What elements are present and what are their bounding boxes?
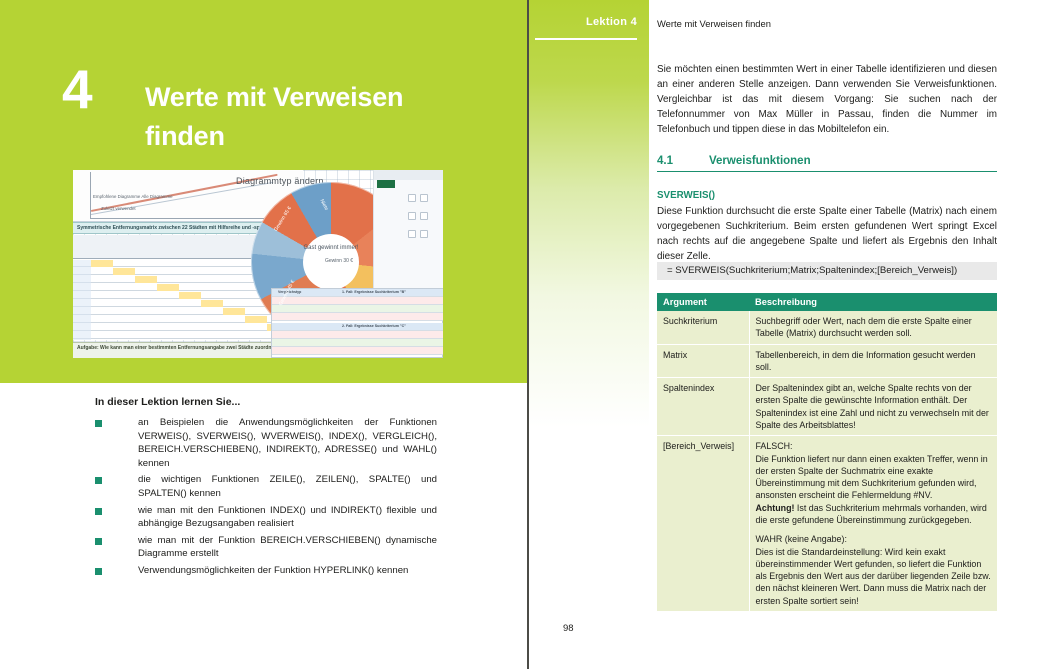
subsection-body: Diese Funktion durchsucht die erste Spal… [657,205,997,264]
table-header-row: Argument Beschreibung [657,293,997,311]
table-row: Suchkriterium Suchbegriff oder Wert, nac… [657,311,997,344]
square-bullet-icon [95,538,102,545]
list-item: wie man mit der Funktion BEREICH.VERSCHI… [95,534,437,561]
excel-ribbon-fragment [373,170,443,290]
achtung-label: Achtung! [756,503,795,513]
chart-blur-label-1: Empfohlene Diagramme Alle Diagramme [93,194,173,199]
ribbon-icon [408,194,416,202]
matrix-cell-highlight [91,260,113,267]
subsection-heading: SVERWEIS() [657,190,715,201]
square-bullet-icon [95,508,102,515]
section-title: Verweisfunktionen [709,155,811,167]
chart-x-axis [90,218,285,219]
table-row: [Bereich_Verweis] FALSCH: Die Funktion l… [657,436,997,611]
comparison-row [272,305,443,313]
cell-description: Tabellenbereich, in dem die Information … [749,344,997,378]
comparison-row [272,331,443,339]
section-heading: 4.1Verweisfunktionen [657,155,997,172]
cell-description-rich: FALSCH: Die Funktion liefert nur dann ei… [749,436,997,611]
right-page: Lektion 4 Werte mit Verweisen finden Sie… [529,0,1057,669]
matrix-caption-text: Symmetrische Entfernungsmatrix zwischen … [77,225,268,231]
cell-argument: Suchkriterium [657,311,749,344]
running-head: Werte mit Verweisen finden [657,18,771,29]
column-header-description: Beschreibung [749,293,997,311]
ribbon-icon [408,230,416,238]
left-page: 4 Werte mit Verweisen finden Empfohlene … [0,0,527,669]
cell-argument: [Bereich_Verweis] [657,436,749,611]
ribbon-icon [420,194,428,202]
comparison-header-1: Vergleichstyp 1. Fall: Ergebnisse Suchkr… [272,289,443,297]
list-item: an Beispielen die Anwendungsmöglichkeite… [95,416,437,470]
square-bullet-icon [95,477,102,484]
list-item-text: die wichtigen Funktionen ZEILE(), ZEILEN… [138,473,437,500]
lesson-label-rule [535,38,637,40]
chart-blur-label-2: Zuletzt verwendet [101,206,136,211]
comparison-row [272,313,443,321]
column-header-argument: Argument [657,293,749,311]
square-bullet-icon [95,420,102,427]
arguments-table: Argument Beschreibung Suchkriterium Such… [657,293,997,611]
comparison-tables: Vergleichstyp 1. Fall: Ergebnisse Suchkr… [271,288,443,358]
chapter-title: Werte mit Verweisen finden [145,78,475,156]
matrix-cell-highlight [157,284,179,291]
ribbon-file-tab [377,180,395,188]
learning-objectives-list: an Beispielen die Anwendungsmöglichkeite… [95,416,437,581]
donut-slice-label: Gewinn 30 € [325,258,353,264]
intro-paragraph: Sie möchten einen bestimmten Wert in ein… [657,62,997,137]
matrix-cell-highlight [245,316,267,323]
falsch-text: Die Funktion liefert nur dann einen exak… [756,454,988,501]
list-item-text: wie man mit den Funktionen INDEX() und I… [138,504,437,531]
table-row: Matrix Tabellenbereich, in dem die Infor… [657,344,997,378]
cell-argument: Spaltenindex [657,378,749,436]
lesson-sidebar-gradient [529,0,649,450]
ribbon-titlebar [374,170,443,180]
section-number: 4.1 [657,155,709,167]
matrix-cell-highlight [179,292,201,299]
matrix-cell-highlight [223,308,245,315]
cell-argument: Matrix [657,344,749,378]
paragraph-gap [756,526,992,533]
comparison-row [272,347,443,355]
cell-description: Der Spaltenindex gibt an, welche Spalte … [749,378,997,436]
ribbon-icon [420,212,428,220]
matrix-cell-highlight [113,268,135,275]
ribbon-icon [408,212,416,220]
page-spread: 4 Werte mit Verweisen finden Empfohlene … [0,0,1057,669]
chapter-number: 4 [62,62,92,117]
matrix-cell-highlight [201,300,223,307]
learning-objectives-heading: In dieser Lektion lernen Sie... [95,396,240,408]
comparison-row [272,297,443,305]
chapter-cover-screenshot: Empfohlene Diagramme Alle Diagramme Zule… [73,170,443,358]
list-item-text: an Beispielen die Anwendungsmöglichkeite… [138,416,437,470]
matrix-row-headers [73,260,91,340]
comparison-row [272,339,443,347]
table-row: Spaltenindex Der Spaltenindex gibt an, w… [657,378,997,436]
page-number: 98 [563,623,574,634]
cell-description: Suchbegriff oder Wert, nach dem die erst… [749,311,997,344]
list-item-text: Verwendungsmöglichkeiten der Funktion HY… [138,564,437,578]
lesson-label: Lektion 4 [529,16,637,28]
falsch-label: FALSCH: [756,441,793,451]
ribbon-icon [420,230,428,238]
list-item-text: wie man mit der Funktion BEREICH.VERSCHI… [138,534,437,561]
wahr-text: Dies ist die Standardeinstellung: Wird k… [756,547,991,606]
comparison-header-2: 2. Fall: Ergebnisse Suchkriterium "C" [272,323,443,331]
list-item: Verwendungsmöglichkeiten der Funktion HY… [95,564,437,578]
matrix-cell-highlight [135,276,157,283]
wahr-label: WAHR (keine Angabe): [756,534,847,544]
list-item: die wichtigen Funktionen ZEILE(), ZEILEN… [95,473,437,500]
list-item: wie man mit den Funktionen INDEX() und I… [95,504,437,531]
formula-syntax-box: = SVERWEIS(Suchkriterium;Matrix;Spalteni… [657,262,997,280]
square-bullet-icon [95,568,102,575]
donut-center-label: Gast gewinnt immer! [271,244,391,253]
